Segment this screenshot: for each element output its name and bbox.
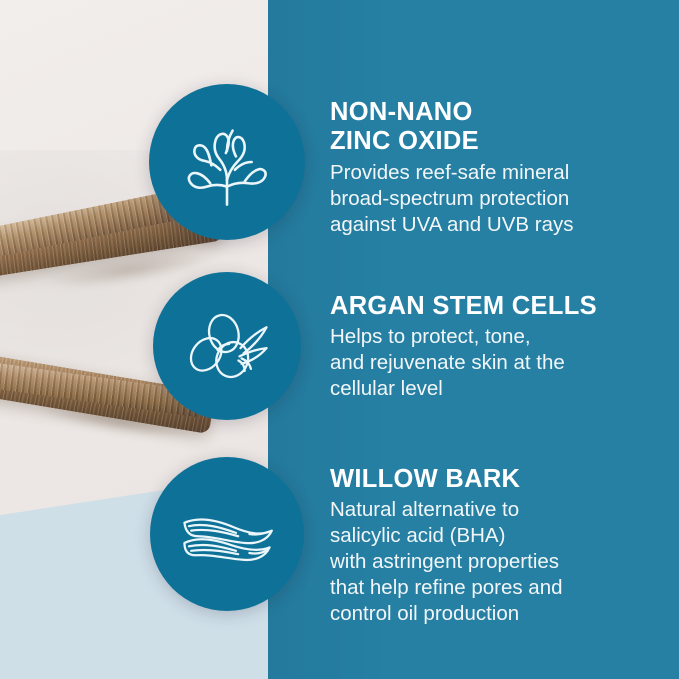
coral-icon-badge — [149, 84, 305, 240]
feature-2-title: ARGAN STEM CELLS — [330, 292, 660, 321]
feature-2-text: ARGAN STEM CELLS Helps to protect, tone,… — [330, 292, 660, 402]
feature-1-desc-line-2: broad-spectrum protection — [330, 187, 569, 210]
feature-3-desc-line-2: salicylic acid (BHA) — [330, 524, 505, 547]
feature-1-text: NON-NANOZINC OXIDE Provides reef-safe mi… — [330, 98, 660, 238]
bark-strips-icon-badge — [150, 457, 304, 611]
feature-1-title-line-2: ZINC OXIDE — [330, 127, 479, 155]
feature-2-description: Helps to protect, tone,and rejuvenate sk… — [330, 324, 660, 402]
feature-2-desc-line-1: Helps to protect, tone, — [330, 325, 531, 348]
feature-1-title: NON-NANOZINC OXIDE — [330, 98, 660, 157]
feature-1-title-line-1: NON-NANO — [330, 98, 473, 126]
feature-1-description: Provides reef-safe mineralbroad-spectrum… — [330, 160, 660, 238]
feature-2-desc-line-3: cellular level — [330, 377, 443, 400]
feature-3-desc-line-1: Natural alternative to — [330, 498, 519, 521]
feature-3-text: WILLOW BARK Natural alternative tosalicy… — [330, 465, 660, 627]
argan-nut-icon — [175, 294, 279, 398]
feature-1-desc-line-3: against UVA and UVB rays — [330, 213, 573, 236]
feature-1-desc-line-1: Provides reef-safe mineral — [330, 161, 569, 184]
feature-2-desc-line-2: and rejuvenate skin at the — [330, 351, 565, 374]
feature-3-desc-line-5: control oil production — [330, 602, 519, 625]
feature-3-desc-line-3: with astringent properties — [330, 550, 559, 573]
feature-3-title: WILLOW BARK — [330, 465, 660, 494]
argan-nut-icon-badge — [153, 272, 301, 420]
coral-icon — [171, 106, 283, 218]
feature-3-desc-line-4: that help refine pores and — [330, 576, 563, 599]
feature-3-description: Natural alternative tosalicylic acid (BH… — [330, 497, 660, 627]
ingredient-benefits-infographic: NON-NANOZINC OXIDE Provides reef-safe mi… — [0, 0, 679, 679]
bark-strips-icon — [171, 478, 283, 590]
